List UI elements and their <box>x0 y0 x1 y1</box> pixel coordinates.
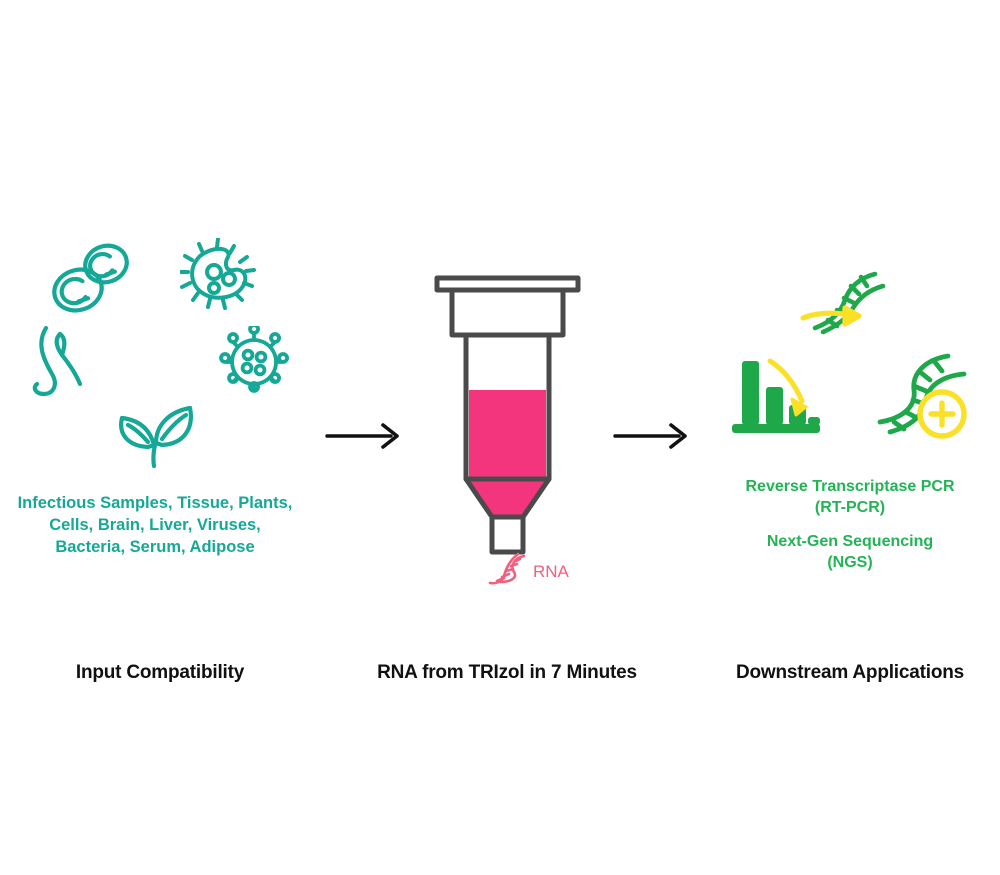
dna-plus-icon <box>868 352 974 449</box>
arrow-right-icon-1 <box>325 420 405 457</box>
downstream-description-rtpcr: Reverse Transcriptase PCR (RT-PCR) <box>700 476 1000 518</box>
plant-leaf-icon <box>110 396 202 473</box>
spin-column-icon <box>425 272 590 562</box>
virus-icon <box>218 326 290 403</box>
rna-label: RNA <box>533 562 569 582</box>
bar-chart-icon <box>730 355 822 445</box>
input-description: Infectious Samples, Tissue, Plants, Cell… <box>10 492 300 558</box>
caption-downstream-applications: Downstream Applications <box>698 662 1000 684</box>
bacteria-icon <box>180 238 260 321</box>
workflow-diagram: Infectious Samples, Tissue, Plants, Cell… <box>0 0 1000 875</box>
cells-icon <box>48 238 138 323</box>
dna-arrow-icon <box>795 268 891 345</box>
arrow-right-icon-2 <box>613 420 693 457</box>
caption-rna-process: RNA from TRIzol in 7 Minutes <box>357 662 657 684</box>
worms-icon <box>24 322 104 409</box>
downstream-description-ngs: Next-Gen Sequencing (NGS) <box>700 531 1000 573</box>
caption-input-compatibility: Input Compatibility <box>10 662 310 684</box>
rna-helix-icon <box>484 552 532 591</box>
